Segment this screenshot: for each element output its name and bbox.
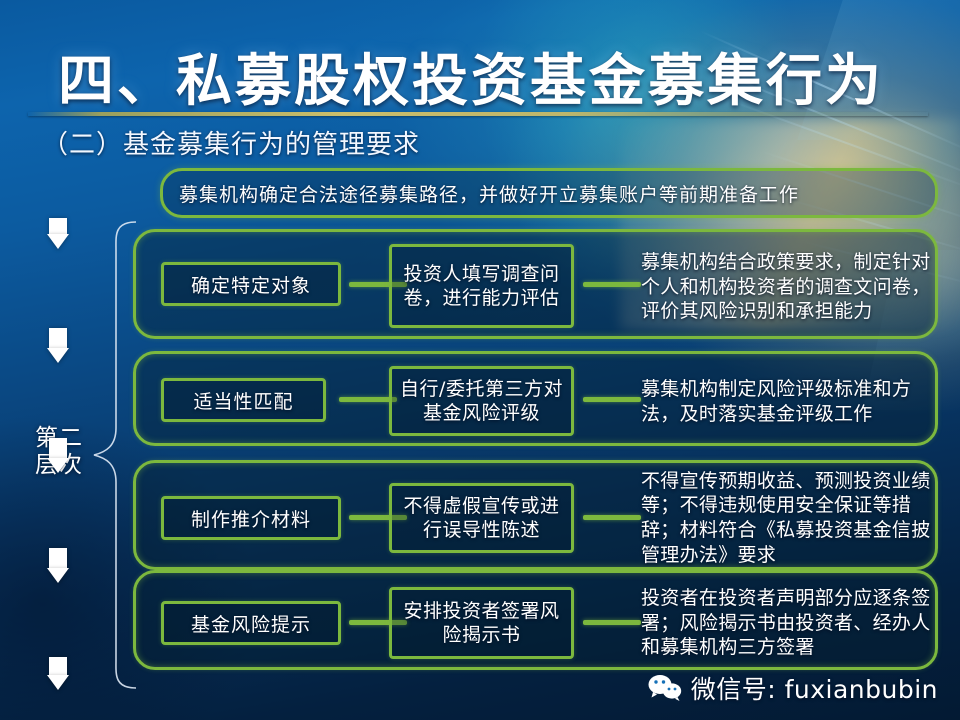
page-title: 四、私募股权投资基金募集行为 [58,36,908,117]
wechat-label: 微信号: fuxianbubin [691,670,938,706]
stage-box-2[interactable]: 适当性匹配 [161,378,326,422]
action-label-3: 不得虚假宣传或进行误导性陈述 [392,492,571,545]
flow-top-box-text: 募集机构确定合法途径募集路径，并做好开立募集账户等前期准备工作 [163,180,799,207]
description-3: 不得宣传预期收益、预测投资业绩等；不得违规使用安全保证等措辞；材料符合《私募投资… [641,465,941,571]
connector-dash [583,620,641,625]
stage-label-4: 基金风险提示 [191,610,311,637]
description-text-4: 投资者在投资者声明部分应逐条签署；风险揭示书由投资者、经办人和募集机构三方签署 [641,586,941,660]
connector-dash [583,282,641,287]
flow-arrow-down [47,548,69,583]
description-4: 投资者在投资者声明部分应逐条签署；风险揭示书由投资者、经办人和募集机构三方签署 [641,581,941,665]
flow-top-box: 募集机构确定合法途径募集路径，并做好开立募集账户等前期准备工作 [160,168,938,218]
flow-row: 基金风险提示 安排投资者签署风险揭示书 投资者在投资者声明部分应逐条签署；风险揭… [133,570,938,670]
wechat-icon [648,674,682,702]
flow-row: 确定特定对象 投资人填写调查问卷，进行能力评估 募集机构结合政策要求，制定针对个… [133,229,938,339]
stage-box-1[interactable]: 确定特定对象 [161,262,341,306]
flow-row: 制作推介材料 不得虚假宣传或进行误导性陈述 不得宣传预期收益、预测投资业绩等；不… [133,460,938,570]
action-label-2: 自行/委托第三方对基金风险评级 [392,375,571,428]
action-label-4: 安排投资者签署风险揭示书 [392,597,571,650]
action-label-1: 投资人填写调查问卷，进行能力评估 [392,260,571,313]
action-box-1[interactable]: 投资人填写调查问卷，进行能力评估 [389,244,574,328]
description-1: 募集机构结合政策要求，制定针对个人和机构投资者的调查文问卷，评价其风险识别和承担… [641,238,941,336]
action-box-3[interactable]: 不得虚假宣传或进行误导性陈述 [389,483,574,553]
description-text-2: 募集机构制定风险评级标准和方法，及时落实基金评级工作 [641,377,941,426]
stage-label-3: 制作推介材料 [191,505,311,532]
flow-arrow-down [47,438,69,473]
description-text-3: 不得宣传预期收益、预测投资业绩等；不得违规使用安全保证等措辞；材料符合《私募投资… [641,469,941,568]
flow-row: 适当性匹配 自行/委托第三方对基金风险评级 募集机构制定风险评级标准和方法，及时… [133,351,938,446]
stage-label-2: 适当性匹配 [193,387,293,414]
wechat-footer: 微信号: fuxianbubin [648,670,938,706]
title-divider [28,112,928,116]
connector-dash [583,515,641,520]
level-brace-icon [92,220,138,690]
action-box-4[interactable]: 安排投资者签署风险揭示书 [389,587,574,659]
flow-arrow-down [47,328,69,363]
section-subtitle: （二）基金募集行为的管理要求 [42,124,420,161]
process-flow-diagram: 募集机构确定合法途径募集路径，并做好开立募集账户等前期准备工作 第二 层次 [0,160,960,680]
stage-label-1: 确定特定对象 [191,271,311,298]
slide-canvas: 四、私募股权投资基金募集行为 （二）基金募集行为的管理要求 募集机构确定合法途径… [0,0,960,720]
description-2: 募集机构制定风险评级标准和方法，及时落实基金评级工作 [641,372,941,432]
flow-arrow-down [47,218,69,249]
stage-box-4[interactable]: 基金风险提示 [161,601,341,645]
flow-arrow-down [47,657,69,690]
stage-box-3[interactable]: 制作推介材料 [161,496,341,540]
connector-dash [583,397,641,402]
action-box-2[interactable]: 自行/委托第三方对基金风险评级 [389,366,574,436]
description-text-1: 募集机构结合政策要求，制定针对个人和机构投资者的调查文问卷，评价其风险识别和承担… [641,250,941,324]
